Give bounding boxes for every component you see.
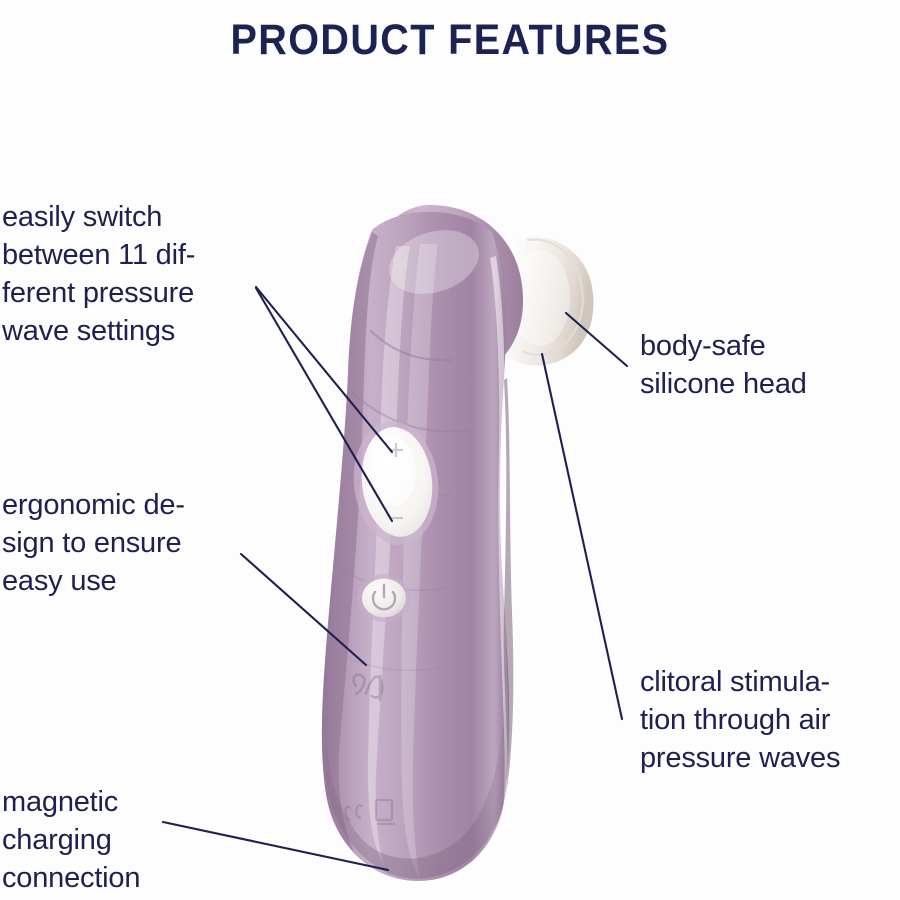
product-features-infographic: PRODUCT FEATURES easily switch between 1… <box>0 0 900 900</box>
callout-label-magnetic: magnetic charging connection <box>2 783 252 897</box>
callout-label-ergonomic: ergonomic de- sign to ensure easy use <box>2 486 264 600</box>
page-title: PRODUCT FEATURES <box>36 16 864 65</box>
power-button[interactable] <box>357 574 411 622</box>
callout-label-clitoral: clitoral stimula- tion through air press… <box>640 663 900 777</box>
callout-label-silicone-head: body-safe silicone head <box>640 327 898 403</box>
product-body <box>322 212 513 881</box>
callout-label-pressure-settings: easily switch between 11 dif- ferent pre… <box>2 198 270 350</box>
